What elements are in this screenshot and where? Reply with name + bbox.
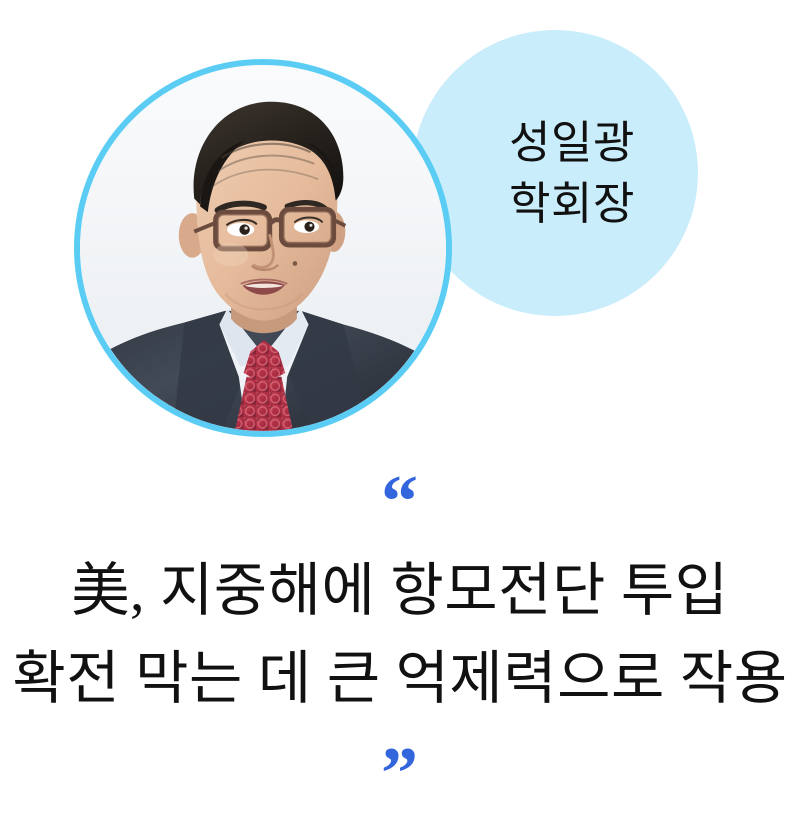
badge-name: 성일광 — [509, 116, 635, 169]
quote-line-2: 확전 막는 데 큰 억제력으로 작용 — [0, 635, 800, 723]
quote-card: 성일광 학회장 — [0, 0, 800, 837]
quote-block: “ 美, 지중해에 항모전단 투입 확전 막는 데 큰 억제력으로 작용 ” — [0, 465, 800, 789]
portrait-area: 성일광 학회장 — [0, 0, 800, 470]
name-badge-circle: 성일광 학회장 — [412, 30, 698, 316]
quote-open-mark: “ — [0, 465, 800, 517]
quote-line-1: 美, 지중해에 항모전단 투입 — [0, 547, 800, 635]
portrait-photo — [80, 65, 446, 431]
badge-title: 학회장 — [509, 177, 635, 230]
portrait-circle — [74, 59, 452, 437]
quote-close-mark: ” — [0, 737, 800, 789]
